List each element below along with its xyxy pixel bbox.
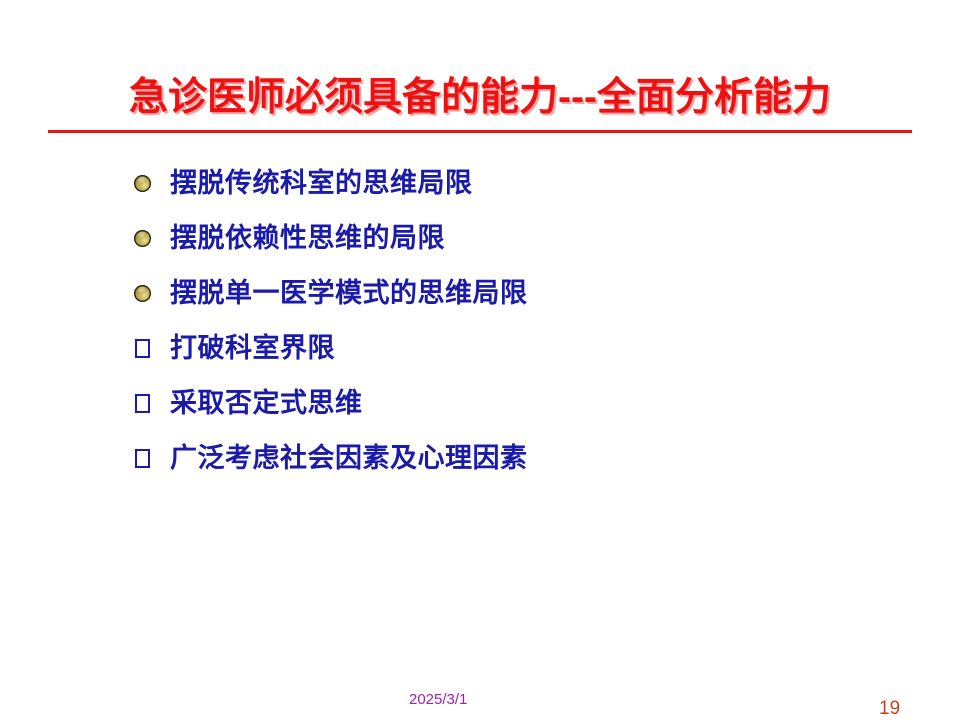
list-item-label: 打破科室界限 bbox=[170, 329, 335, 367]
presentation-slide: 急诊医师必须具备的能力---全面分析能力 摆脱传统科室的思维局限 摆脱依赖性思维… bbox=[0, 0, 960, 720]
bullet-cell bbox=[134, 164, 170, 202]
list-item-label: 摆脱传统科室的思维局限 bbox=[170, 164, 473, 202]
bullet-list: 摆脱传统科室的思维局限 摆脱依赖性思维的局限 摆脱单一医学模式的思维局限 打破科… bbox=[134, 164, 894, 494]
list-item[interactable]: 打破科室界限 bbox=[134, 329, 894, 384]
list-item[interactable]: 摆脱单一医学模式的思维局限 bbox=[134, 274, 894, 329]
bullet-cell bbox=[134, 384, 170, 422]
list-item-label: 摆脱依赖性思维的局限 bbox=[170, 219, 445, 257]
slide-date: 2025/3/1 bbox=[409, 691, 467, 709]
bullet-cell bbox=[134, 329, 170, 367]
slide-page-number: 19 bbox=[879, 698, 900, 720]
bullet-cell bbox=[134, 439, 170, 477]
title-underline-divider bbox=[48, 130, 912, 133]
list-item[interactable]: 采取否定式思维 bbox=[134, 384, 894, 439]
hollow-square-bullet-icon bbox=[135, 449, 150, 468]
list-item-label: 摆脱单一医学模式的思维局限 bbox=[170, 274, 528, 312]
gold-sphere-bullet-icon bbox=[134, 230, 151, 247]
hollow-square-bullet-icon bbox=[135, 339, 150, 358]
gold-sphere-bullet-icon bbox=[134, 285, 151, 302]
hollow-square-bullet-icon bbox=[135, 394, 150, 413]
bullet-cell bbox=[134, 219, 170, 257]
list-item[interactable]: 摆脱依赖性思维的局限 bbox=[134, 219, 894, 274]
page-title: 急诊医师必须具备的能力---全面分析能力 bbox=[129, 74, 831, 122]
list-item[interactable]: 广泛考虑社会因素及心理因素 bbox=[134, 439, 894, 494]
list-item-label: 采取否定式思维 bbox=[170, 384, 363, 422]
gold-sphere-bullet-icon bbox=[134, 175, 151, 192]
list-item-label: 广泛考虑社会因素及心理因素 bbox=[170, 439, 528, 477]
list-item[interactable]: 摆脱传统科室的思维局限 bbox=[134, 164, 894, 219]
slide-title-block: 急诊医师必须具备的能力---全面分析能力 bbox=[0, 74, 960, 122]
bullet-cell bbox=[134, 274, 170, 312]
